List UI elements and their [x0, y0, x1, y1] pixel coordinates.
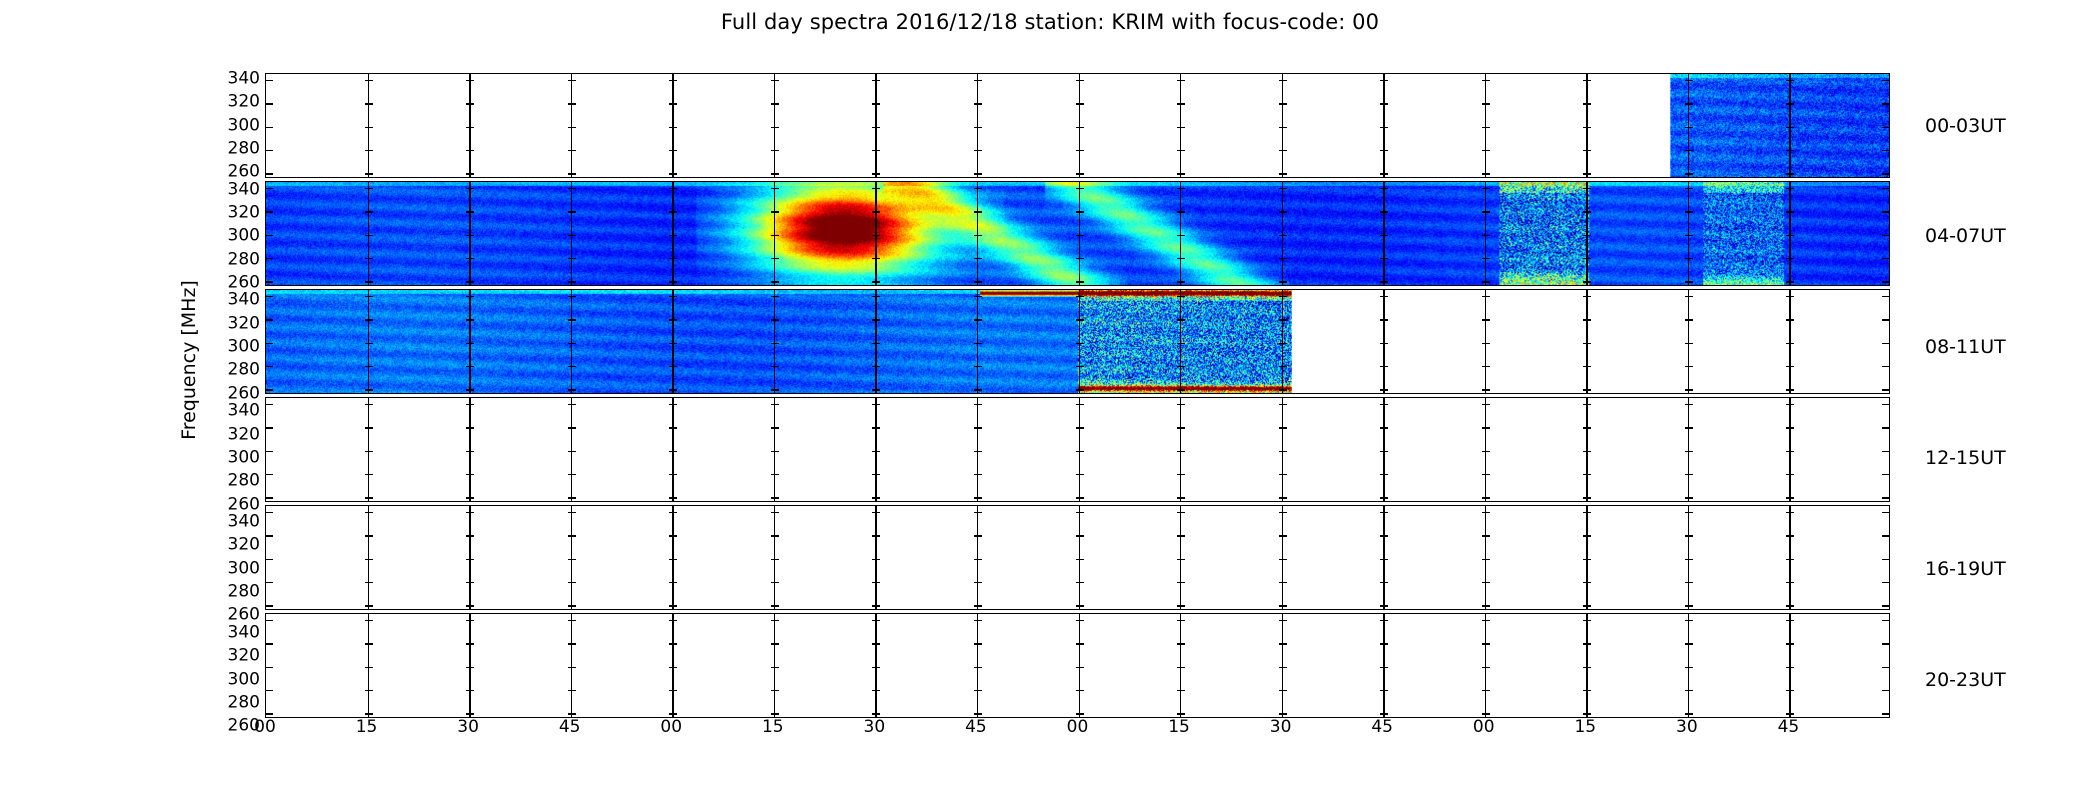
y-tick-mark — [1177, 620, 1185, 621]
y-tick-mark — [1882, 512, 1889, 513]
x-gridline — [1282, 398, 1283, 501]
y-tick-mark — [1882, 690, 1889, 691]
y-tick-mark — [266, 512, 273, 513]
y-tick-mark — [1482, 643, 1490, 644]
x-gridline — [977, 506, 978, 609]
y-tick-mark — [266, 559, 273, 560]
x-tick-label: 00 — [660, 718, 682, 737]
tick-grid-overlay — [266, 506, 1889, 609]
x-tick-label: 30 — [457, 718, 479, 737]
y-tick-mark — [1786, 512, 1794, 513]
y-tick-mark — [771, 404, 779, 405]
x-tick-label: 15 — [1168, 718, 1190, 737]
x-gridline — [469, 398, 470, 501]
y-tick-mark — [872, 474, 880, 475]
y-tick-mark — [1076, 605, 1084, 606]
row-label-08-11ut: 08-11UT — [1925, 336, 2006, 358]
y-tick-mark — [1380, 497, 1388, 498]
y-tick-label: 260 — [228, 718, 260, 735]
y-tick-mark — [266, 404, 273, 405]
y-tick-mark — [1279, 559, 1287, 560]
y-tick-mark — [872, 512, 880, 513]
y-tick-mark — [872, 713, 880, 714]
y-tick-label: 260 — [228, 164, 260, 181]
y-tick-mark — [1380, 535, 1388, 536]
y-tick-mark — [1482, 620, 1490, 621]
x-gridline — [774, 614, 775, 717]
y-tick-mark — [1482, 559, 1490, 560]
x-gridline — [1180, 614, 1181, 717]
y-tick-mark — [1685, 512, 1693, 513]
y-tick-mark — [771, 713, 779, 714]
x-tick-label: 30 — [1270, 718, 1292, 737]
y-tick-mark — [466, 451, 474, 452]
y-tick-mark — [568, 451, 576, 452]
y-tick-mark — [1685, 667, 1693, 668]
y-axis-tick-labels: 340320300280260 — [198, 627, 260, 732]
y-tick-mark — [466, 474, 474, 475]
y-tick-mark — [974, 667, 982, 668]
x-tick-label: 15 — [1574, 718, 1596, 737]
x-gridline — [368, 506, 369, 609]
x-tick-label: 45 — [559, 718, 581, 737]
y-tick-mark — [1279, 512, 1287, 513]
y-tick-mark — [1882, 713, 1889, 714]
y-tick-mark — [1583, 605, 1591, 606]
y-tick-mark — [771, 497, 779, 498]
y-tick-mark — [1380, 474, 1388, 475]
y-tick-mark — [365, 690, 373, 691]
y-tick-mark — [1380, 559, 1388, 560]
tick-grid-overlay — [266, 398, 1889, 501]
y-tick-mark — [1076, 451, 1084, 452]
y-tick-mark — [1882, 427, 1889, 428]
y-tick-mark — [1583, 535, 1591, 536]
spectrogram-panel — [265, 613, 1890, 718]
y-tick-mark — [771, 690, 779, 691]
y-tick-mark — [1583, 713, 1591, 714]
y-axis-tick-labels: 340320300280260 — [198, 405, 260, 510]
y-tick-mark — [974, 620, 982, 621]
x-tick-label: 45 — [1778, 718, 1800, 737]
y-tick-label: 340 — [228, 70, 260, 87]
y-tick-label: 260 — [228, 385, 260, 402]
y-tick-label: 260 — [228, 496, 260, 513]
y-tick-mark — [365, 713, 373, 714]
y-tick-mark — [1177, 474, 1185, 475]
x-gridline — [672, 506, 673, 609]
y-tick-mark — [466, 559, 474, 560]
y-tick-mark — [1076, 559, 1084, 560]
y-tick-mark — [1583, 512, 1591, 513]
y-tick-mark — [266, 643, 273, 644]
y-axis-tick-labels: 340320300280260 — [198, 184, 260, 289]
row-label-04-07ut: 04-07UT — [1925, 225, 2006, 247]
y-tick-label: 340 — [228, 403, 260, 420]
y-tick-mark — [1380, 690, 1388, 691]
x-gridline — [1383, 614, 1384, 717]
y-tick-mark — [1076, 404, 1084, 405]
y-tick-mark — [1380, 605, 1388, 606]
y-tick-mark — [365, 643, 373, 644]
y-tick-mark — [1685, 713, 1693, 714]
x-gridline — [469, 614, 470, 717]
spectrogram-image — [266, 182, 1889, 285]
y-tick-mark — [1882, 535, 1889, 536]
y-tick-mark — [872, 690, 880, 691]
x-gridline — [672, 398, 673, 501]
y-tick-mark — [466, 643, 474, 644]
y-tick-label: 280 — [228, 140, 260, 157]
y-tick-mark — [365, 497, 373, 498]
y-tick-mark — [1279, 713, 1287, 714]
y-tick-mark — [1279, 451, 1287, 452]
y-tick-mark — [771, 559, 779, 560]
x-gridline — [571, 398, 572, 501]
y-tick-mark — [1380, 713, 1388, 714]
y-tick-mark — [466, 427, 474, 428]
y-tick-mark — [1786, 582, 1794, 583]
y-tick-mark — [974, 582, 982, 583]
y-tick-mark — [1583, 404, 1591, 405]
y-tick-mark — [669, 620, 677, 621]
spectrogram-image — [266, 290, 1889, 393]
y-tick-mark — [669, 427, 677, 428]
y-tick-mark — [1076, 690, 1084, 691]
y-tick-mark — [365, 474, 373, 475]
y-tick-mark — [771, 620, 779, 621]
x-gridline — [368, 614, 369, 717]
tick-grid-overlay — [266, 614, 1889, 717]
y-tick-mark — [568, 404, 576, 405]
spectrogram-panel — [265, 73, 1890, 178]
spectrogram-panel — [265, 181, 1890, 286]
y-tick-mark — [1177, 559, 1185, 560]
y-tick-mark — [1076, 713, 1084, 714]
y-tick-mark — [771, 605, 779, 606]
y-tick-mark — [1177, 451, 1185, 452]
y-tick-mark — [771, 643, 779, 644]
y-tick-mark — [1882, 667, 1889, 668]
y-tick-mark — [1380, 427, 1388, 428]
x-gridline — [1282, 506, 1283, 609]
y-tick-mark — [1583, 690, 1591, 691]
y-tick-label: 260 — [228, 274, 260, 291]
y-tick-mark — [1685, 474, 1693, 475]
y-tick-mark — [872, 451, 880, 452]
y-tick-mark — [872, 497, 880, 498]
y-tick-mark — [771, 512, 779, 513]
y-tick-mark — [1786, 643, 1794, 644]
y-axis-label-text: Frequency [MHz] — [178, 280, 200, 440]
y-tick-mark — [266, 620, 273, 621]
y-tick-mark — [1685, 497, 1693, 498]
y-tick-label: 320 — [228, 204, 260, 221]
y-tick-mark — [1482, 512, 1490, 513]
y-tick-mark — [1786, 605, 1794, 606]
y-tick-mark — [1882, 497, 1889, 498]
y-tick-mark — [1786, 559, 1794, 560]
x-gridline — [368, 398, 369, 501]
y-tick-mark — [872, 605, 880, 606]
y-tick-mark — [365, 427, 373, 428]
y-tick-mark — [1786, 404, 1794, 405]
row-label-20-23ut: 20-23UT — [1925, 669, 2006, 691]
x-gridline — [1586, 398, 1587, 501]
y-tick-mark — [1685, 559, 1693, 560]
y-tick-mark — [1482, 713, 1490, 714]
x-gridline — [774, 398, 775, 501]
y-tick-mark — [1882, 582, 1889, 583]
y-tick-mark — [266, 474, 273, 475]
y-tick-mark — [1177, 535, 1185, 536]
y-tick-mark — [1685, 643, 1693, 644]
y-tick-mark — [872, 535, 880, 536]
y-tick-mark — [771, 582, 779, 583]
y-tick-label: 340 — [228, 181, 260, 198]
x-tick-label: 00 — [1473, 718, 1495, 737]
x-gridline — [1586, 506, 1587, 609]
y-tick-label: 280 — [228, 251, 260, 268]
y-tick-mark — [1177, 643, 1185, 644]
y-tick-mark — [568, 427, 576, 428]
y-tick-mark — [466, 535, 474, 536]
y-tick-mark — [266, 535, 273, 536]
y-tick-mark — [974, 474, 982, 475]
y-tick-mark — [669, 582, 677, 583]
y-tick-mark — [1279, 535, 1287, 536]
y-tick-mark — [1482, 535, 1490, 536]
y-tick-mark — [1380, 512, 1388, 513]
y-tick-mark — [669, 605, 677, 606]
y-tick-mark — [466, 713, 474, 714]
y-tick-mark — [1685, 690, 1693, 691]
y-tick-mark — [669, 713, 677, 714]
y-tick-mark — [1177, 605, 1185, 606]
x-gridline — [672, 614, 673, 717]
y-tick-mark — [1279, 427, 1287, 428]
x-gridline — [875, 398, 876, 501]
y-tick-mark — [974, 559, 982, 560]
y-tick-mark — [1380, 404, 1388, 405]
y-axis-tick-labels: 340320300280260 — [198, 73, 260, 178]
y-tick-mark — [669, 535, 677, 536]
y-tick-mark — [1882, 451, 1889, 452]
y-tick-mark — [1380, 451, 1388, 452]
y-tick-mark — [466, 404, 474, 405]
y-tick-mark — [568, 690, 576, 691]
y-tick-mark — [1482, 582, 1490, 583]
y-tick-mark — [1279, 667, 1287, 668]
y-tick-mark — [568, 512, 576, 513]
y-tick-mark — [1177, 667, 1185, 668]
y-tick-mark — [1685, 582, 1693, 583]
y-tick-mark — [974, 690, 982, 691]
y-tick-mark — [1279, 497, 1287, 498]
y-tick-mark — [974, 497, 982, 498]
y-axis-tick-labels: 340320300280260 — [198, 295, 260, 400]
x-axis-tick-labels: 00153045001530450015304500153045 — [265, 718, 1890, 742]
y-tick-mark — [365, 620, 373, 621]
y-tick-mark — [266, 667, 273, 668]
y-tick-mark — [1786, 451, 1794, 452]
y-tick-mark — [1882, 643, 1889, 644]
y-tick-mark — [365, 605, 373, 606]
y-tick-label: 300 — [228, 117, 260, 134]
y-tick-mark — [568, 620, 576, 621]
y-tick-mark — [974, 427, 982, 428]
y-tick-mark — [1380, 582, 1388, 583]
y-tick-mark — [872, 559, 880, 560]
y-tick-label: 320 — [228, 426, 260, 443]
x-gridline — [774, 506, 775, 609]
y-tick-mark — [1583, 643, 1591, 644]
y-tick-mark — [568, 643, 576, 644]
y-tick-label: 340 — [228, 624, 260, 641]
y-tick-mark — [1482, 497, 1490, 498]
x-gridline — [1180, 398, 1181, 501]
y-tick-label: 340 — [228, 514, 260, 531]
x-tick-label: 00 — [1067, 718, 1089, 737]
y-tick-mark — [365, 512, 373, 513]
y-tick-mark — [1279, 474, 1287, 475]
x-tick-label: 45 — [1371, 718, 1393, 737]
y-tick-mark — [1583, 582, 1591, 583]
y-tick-mark — [1786, 497, 1794, 498]
x-gridline — [1079, 614, 1080, 717]
y-tick-mark — [1882, 559, 1889, 560]
y-tick-mark — [1279, 620, 1287, 621]
y-tick-mark — [466, 582, 474, 583]
y-tick-mark — [872, 667, 880, 668]
y-tick-mark — [1279, 582, 1287, 583]
row-label-16-19ut: 16-19UT — [1925, 558, 2006, 580]
y-tick-mark — [266, 690, 273, 691]
y-tick-mark — [568, 535, 576, 536]
y-tick-mark — [669, 404, 677, 405]
y-tick-mark — [872, 404, 880, 405]
y-tick-label: 300 — [228, 671, 260, 688]
x-gridline — [1485, 506, 1486, 609]
y-tick-mark — [1076, 512, 1084, 513]
y-tick-mark — [568, 497, 576, 498]
y-tick-mark — [1482, 427, 1490, 428]
y-tick-mark — [466, 497, 474, 498]
y-tick-mark — [872, 427, 880, 428]
y-tick-mark — [771, 474, 779, 475]
x-gridline — [1485, 398, 1486, 501]
y-tick-mark — [771, 451, 779, 452]
y-tick-mark — [1076, 535, 1084, 536]
y-tick-mark — [669, 690, 677, 691]
x-gridline — [1485, 614, 1486, 717]
y-tick-mark — [1076, 474, 1084, 475]
y-tick-mark — [1882, 404, 1889, 405]
x-gridline — [571, 614, 572, 717]
y-tick-mark — [872, 620, 880, 621]
y-tick-mark — [1786, 713, 1794, 714]
x-gridline — [1688, 398, 1689, 501]
y-tick-mark — [1076, 427, 1084, 428]
x-gridline — [571, 506, 572, 609]
x-gridline — [1688, 506, 1689, 609]
y-tick-mark — [1482, 690, 1490, 691]
y-tick-mark — [1685, 404, 1693, 405]
y-tick-mark — [1380, 667, 1388, 668]
y-tick-mark — [466, 605, 474, 606]
x-gridline — [875, 614, 876, 717]
y-tick-mark — [568, 667, 576, 668]
y-tick-mark — [266, 605, 273, 606]
y-tick-mark — [1786, 535, 1794, 536]
x-gridline — [1383, 506, 1384, 609]
spectrogram-panel — [265, 505, 1890, 610]
y-tick-mark — [771, 427, 779, 428]
y-tick-mark — [266, 451, 273, 452]
y-tick-label: 340 — [228, 292, 260, 309]
y-tick-mark — [974, 512, 982, 513]
y-tick-mark — [669, 497, 677, 498]
y-tick-mark — [568, 559, 576, 560]
y-tick-mark — [1685, 535, 1693, 536]
y-tick-mark — [974, 713, 982, 714]
y-tick-mark — [365, 559, 373, 560]
y-tick-mark — [1076, 620, 1084, 621]
y-tick-mark — [466, 620, 474, 621]
y-tick-label: 320 — [228, 315, 260, 332]
spectrogram-image — [266, 74, 1889, 177]
y-tick-mark — [1583, 427, 1591, 428]
y-tick-mark — [1482, 451, 1490, 452]
y-tick-label: 260 — [228, 607, 260, 624]
y-tick-mark — [1076, 497, 1084, 498]
y-tick-mark — [1882, 474, 1889, 475]
y-tick-mark — [669, 512, 677, 513]
y-tick-mark — [771, 667, 779, 668]
y-tick-mark — [1786, 690, 1794, 691]
y-tick-mark — [568, 713, 576, 714]
row-label-12-15ut: 12-15UT — [1925, 447, 2006, 469]
y-tick-mark — [1482, 667, 1490, 668]
y-tick-label: 300 — [228, 339, 260, 356]
y-tick-mark — [1685, 605, 1693, 606]
x-gridline — [1789, 506, 1790, 609]
x-gridline — [875, 506, 876, 609]
y-tick-label: 280 — [228, 473, 260, 490]
y-tick-mark — [1177, 404, 1185, 405]
y-tick-mark — [266, 582, 273, 583]
y-tick-mark — [771, 535, 779, 536]
y-tick-mark — [1177, 427, 1185, 428]
y-tick-mark — [365, 667, 373, 668]
y-tick-mark — [365, 582, 373, 583]
y-tick-mark — [1279, 605, 1287, 606]
y-tick-mark — [1786, 667, 1794, 668]
x-tick-label: 30 — [864, 718, 886, 737]
y-tick-mark — [1685, 451, 1693, 452]
x-gridline — [1586, 614, 1587, 717]
y-tick-mark — [1076, 643, 1084, 644]
y-tick-mark — [365, 451, 373, 452]
y-tick-mark — [974, 643, 982, 644]
x-gridline — [1383, 398, 1384, 501]
y-tick-mark — [1685, 427, 1693, 428]
y-tick-mark — [1583, 474, 1591, 475]
x-gridline — [1180, 506, 1181, 609]
x-gridline — [1789, 398, 1790, 501]
y-tick-label: 300 — [228, 560, 260, 577]
y-tick-mark — [974, 605, 982, 606]
